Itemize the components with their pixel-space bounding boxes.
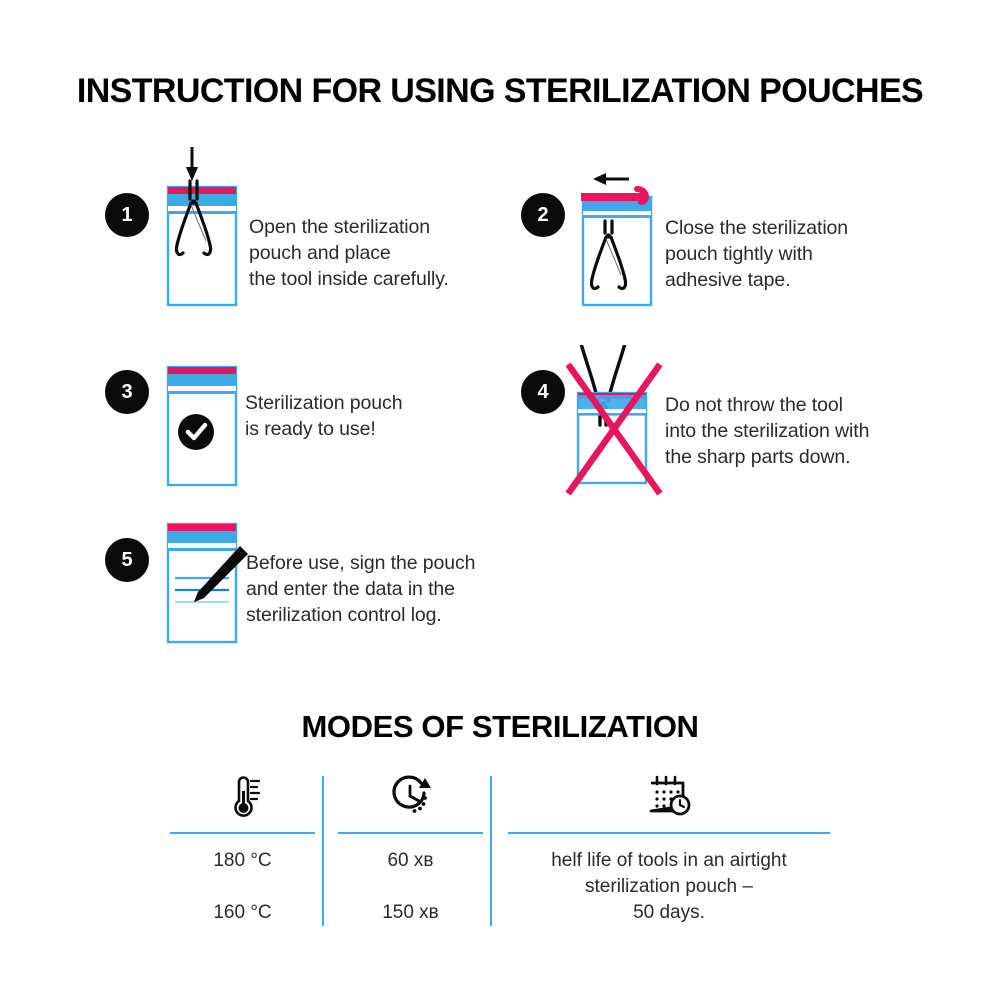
step-5-number: 5: [121, 550, 132, 570]
step-2-illustration: [575, 167, 661, 315]
step-5-illustration: [160, 522, 260, 644]
modes-table: 180 °C 160 °C: [170, 768, 830, 938]
column-rule: [338, 832, 483, 834]
step-1-text: Open the sterilization pouch and place t…: [249, 214, 479, 292]
step-4-text: Do not throw the tool into the steriliza…: [665, 392, 925, 470]
shelf-life-note: helf life of tools in an airtight steril…: [508, 848, 830, 926]
step-1-illustration: [160, 145, 246, 315]
modes-divider-1: [322, 776, 324, 926]
step-1-number-badge: 1: [105, 193, 149, 237]
left-arrow-icon: [593, 173, 629, 185]
step-5-number-badge: 5: [105, 538, 149, 582]
cross-out-icon: [570, 367, 658, 491]
temperature-value-2: 160 °C: [170, 900, 315, 926]
adhesive-tape-icon: [581, 189, 646, 202]
column-rule: [508, 832, 830, 834]
temperature-value-1: 180 °C: [170, 848, 315, 874]
step-2-number: 2: [537, 205, 548, 225]
page-title: INSTRUCTION FOR USING STERILIZATION POUC…: [0, 72, 1000, 111]
step-4-number-badge: 4: [521, 370, 565, 414]
step-3-number-badge: 3: [105, 370, 149, 414]
time-value-1: 60 хв: [338, 848, 483, 874]
check-circle-icon: [178, 414, 214, 450]
step-2-number-badge: 2: [521, 193, 565, 237]
clock-arrow-icon: [338, 768, 483, 824]
step-3-text: Sterilization pouch is ready to use!: [245, 390, 495, 442]
step-4-number: 4: [537, 382, 548, 402]
thermometer-icon: [170, 768, 315, 824]
step-4-illustration: [560, 345, 670, 495]
step-1-number: 1: [121, 205, 132, 225]
column-rule: [170, 832, 315, 834]
step-5-text: Before use, sign the pouch and enter the…: [246, 550, 526, 628]
step-3-number: 3: [121, 382, 132, 402]
step-3-illustration: [160, 365, 246, 490]
step-2-text: Close the sterilization pouch tightly wi…: [665, 215, 915, 293]
modes-section-title: MODES OF STERILIZATION: [0, 709, 1000, 745]
down-arrow-icon: [186, 147, 198, 181]
modes-divider-2: [490, 776, 492, 926]
infographic-page: INSTRUCTION FOR USING STERILIZATION POUC…: [0, 0, 1000, 1000]
calendar-clock-icon: [508, 768, 830, 824]
time-value-2: 150 хв: [338, 900, 483, 926]
